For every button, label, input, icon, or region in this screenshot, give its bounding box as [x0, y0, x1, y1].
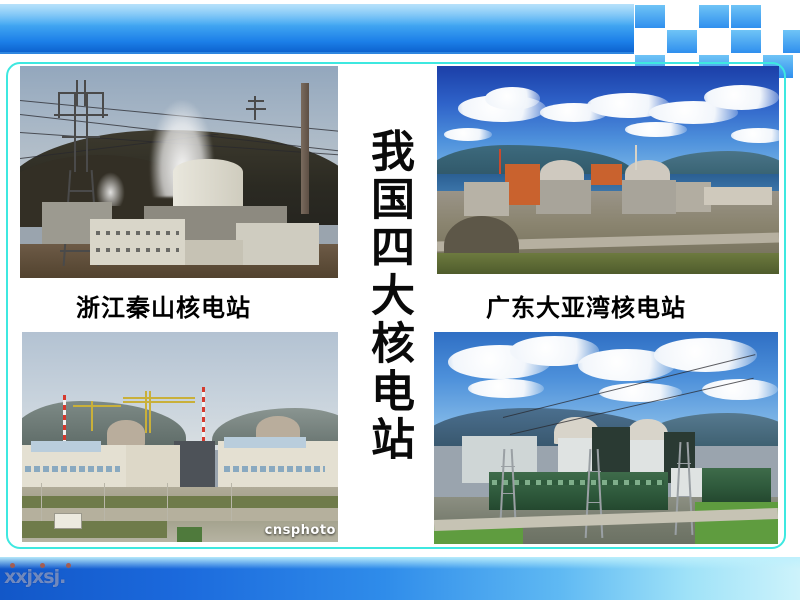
hall-window-band — [492, 480, 664, 485]
building-roof — [224, 437, 306, 448]
turbine-hall — [622, 180, 677, 213]
cloud — [444, 128, 492, 140]
exhaust-chimney — [301, 83, 309, 214]
page-title: 我国四大核电站 — [348, 128, 412, 464]
stack-mast — [635, 145, 637, 170]
green-skip — [177, 527, 202, 542]
slide-canvas: 浙江秦山核电站 — [0, 0, 800, 600]
lamp-post — [41, 483, 42, 521]
banner-checker-square — [634, 4, 666, 29]
lamp-post — [167, 483, 168, 521]
banner-checker-square — [698, 4, 730, 29]
banner-checker-square — [666, 29, 698, 54]
lamp-post — [231, 483, 232, 521]
plant-building-right — [236, 223, 319, 265]
white-truck — [54, 513, 82, 530]
office-building — [90, 219, 185, 266]
banner-checker-square — [730, 4, 762, 29]
photo-qinshan[interactable] — [20, 66, 338, 278]
watermark-dot — [40, 563, 45, 568]
turbine-hall-green — [702, 468, 771, 502]
window-row — [96, 231, 179, 235]
caption-daya-bay: 广东大亚湾核电站 — [486, 288, 686, 323]
warehouse — [704, 187, 772, 206]
foreground-vegetation — [437, 253, 779, 274]
cloud — [625, 122, 687, 137]
lawn-strip — [22, 496, 338, 509]
lawn-strip — [22, 521, 167, 538]
window-band — [25, 466, 120, 472]
banner-gloss — [0, 4, 634, 26]
lamp-post — [104, 483, 105, 521]
photo-watermark-cnsphoto: cnsphoto — [265, 523, 336, 538]
band-fade — [0, 557, 800, 569]
caption-qinshan: 浙江秦山核电站 — [76, 288, 251, 323]
building-roof — [31, 441, 101, 452]
site-watermark: xxjxsj. — [4, 566, 65, 588]
striped-mast — [202, 387, 205, 446]
plant-building — [464, 182, 508, 215]
watermark-dot — [66, 563, 71, 568]
photo-daya-bay[interactable] — [437, 66, 779, 274]
orange-building — [505, 164, 539, 206]
watermark-dot — [10, 563, 15, 568]
distant-pylon — [246, 96, 266, 120]
window-row — [96, 248, 179, 252]
orange-building — [591, 164, 622, 185]
top-banner — [0, 4, 634, 54]
cloud — [599, 383, 682, 402]
banner-checker-square — [730, 29, 762, 54]
stack-mast — [499, 149, 501, 174]
cloud — [704, 85, 779, 110]
turbine-hall — [536, 180, 591, 213]
photo-lingao[interactable] — [434, 332, 778, 544]
cloud — [731, 128, 779, 143]
low-building — [185, 240, 242, 265]
mid-building — [126, 445, 180, 491]
window-band — [224, 466, 325, 472]
bottom-gradient-band — [0, 557, 800, 600]
cloud — [485, 87, 540, 110]
banner-checker-square — [782, 29, 800, 54]
reactor-containment-dome — [107, 420, 145, 445]
cloud — [468, 379, 544, 398]
photo-tianwan[interactable]: cnsphoto — [22, 332, 338, 542]
